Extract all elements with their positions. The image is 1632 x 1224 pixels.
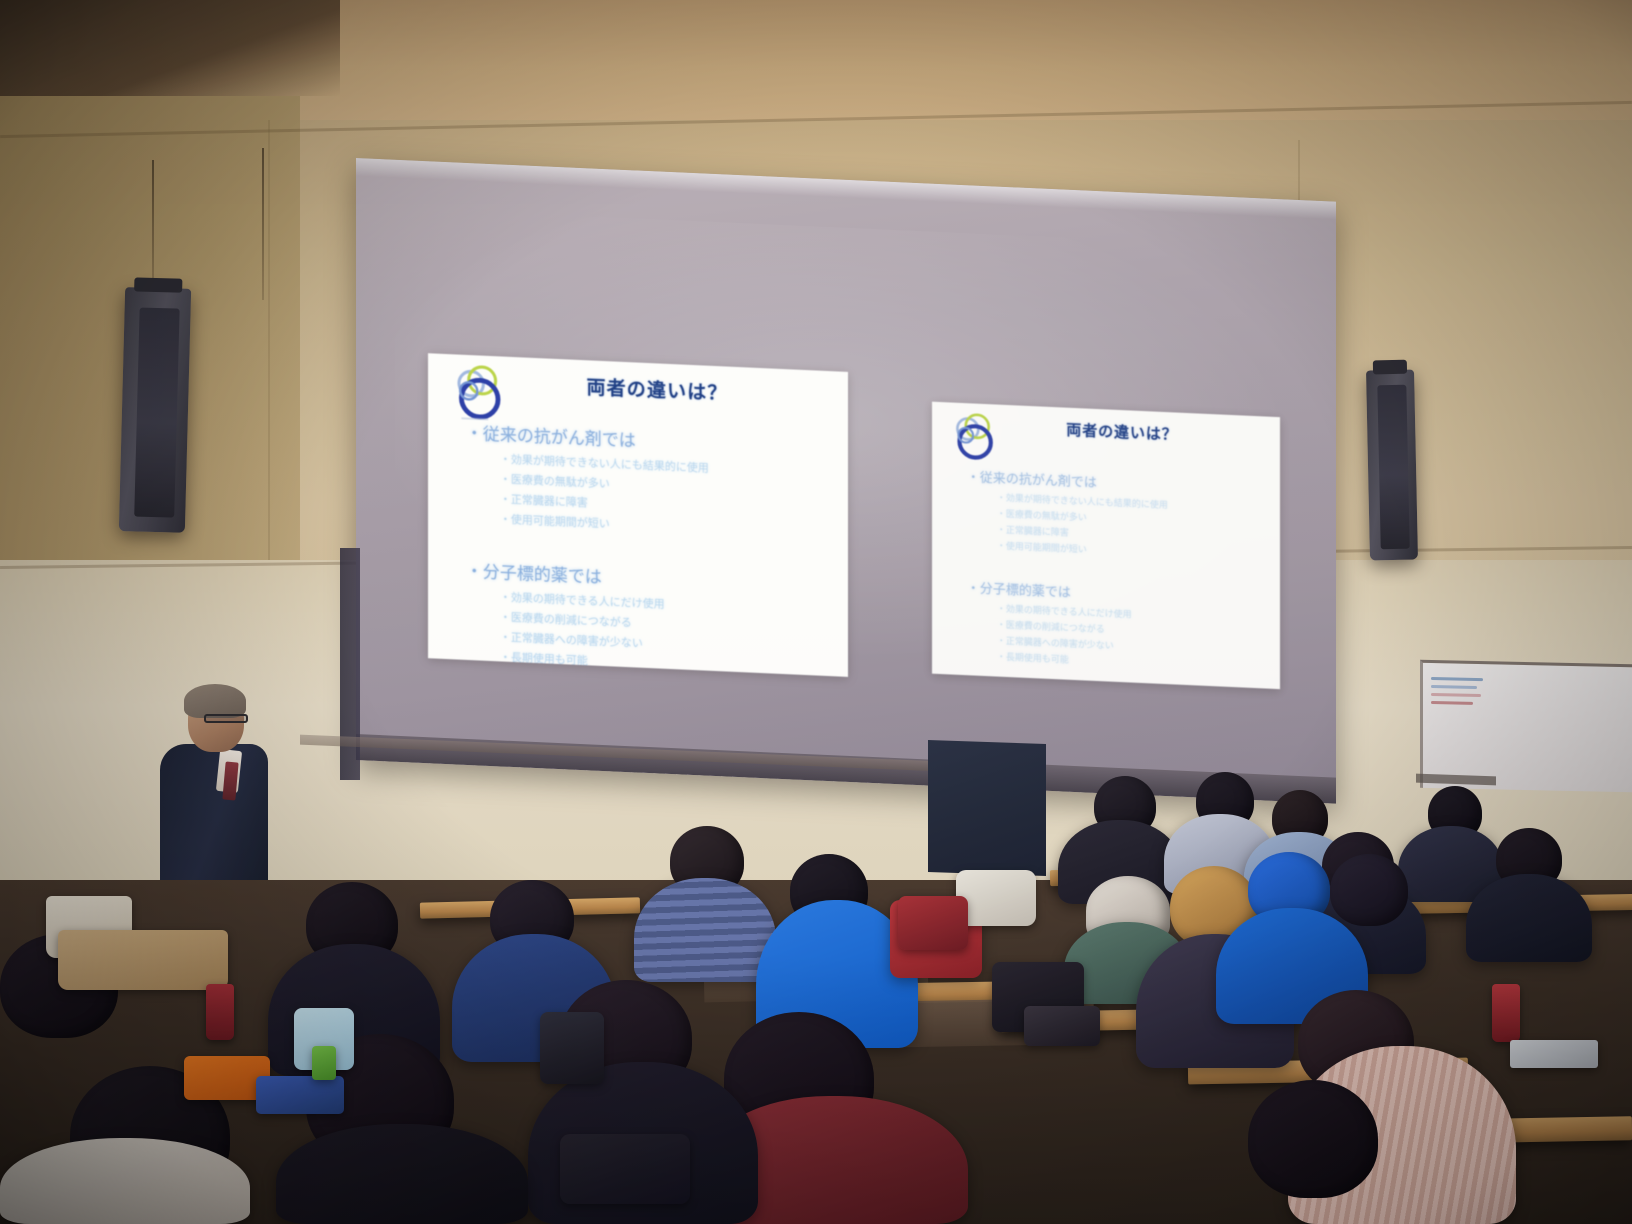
student-white-hood: [0, 1138, 250, 1224]
plastic-bag-white: [956, 870, 1036, 926]
backpack-black: [540, 1012, 604, 1084]
whiteboard-marker-mark: [1431, 677, 1483, 681]
water-bottle-red: [1492, 984, 1520, 1042]
student-head: [1248, 1080, 1378, 1198]
slide-panel-primary: 両者の違いは？ ・従来の抗がん剤では ・効果が期待できない人にも結果的に使用 ・…: [428, 353, 848, 677]
presenter-hair: [184, 684, 246, 718]
whiteboard-marker-mark: [1431, 685, 1477, 689]
ceiling-speaker-right: [1366, 370, 1418, 561]
speaker-wire: [262, 148, 264, 300]
paper-bag-tan: [58, 930, 228, 990]
ceiling-speaker-left: [119, 287, 191, 533]
speaker-wire: [152, 160, 154, 290]
slide-bullets: ・従来の抗がん剤では ・効果が期待できない人にも結果的に使用 ・医療費の無駄が多…: [466, 419, 836, 677]
student-red-jacket: [898, 896, 968, 950]
snack-pack-green: [256, 1076, 344, 1114]
thermos-red: [206, 984, 234, 1040]
backpack-black: [1024, 1006, 1100, 1046]
student-head: [1330, 854, 1408, 926]
whiteboard: [1420, 660, 1632, 792]
backpack-black: [560, 1134, 690, 1204]
slide-panel-secondary: 両者の違いは？ ・従来の抗がん剤では ・効果が期待できない人にも結果的に使用 ・…: [932, 402, 1280, 689]
speaker-bracket: [1373, 360, 1408, 375]
speaker-grille: [134, 307, 180, 518]
speaker-grille: [1377, 385, 1410, 549]
projection-screen: 両者の違いは？ ・従来の抗がん剤では ・効果が期待できない人にも結果的に使用 ・…: [356, 158, 1336, 804]
student-dark-head: [276, 1124, 528, 1224]
plastic-bag-white: [1510, 1040, 1598, 1068]
whiteboard-marker-mark: [1431, 693, 1481, 697]
wall-panel-line: [268, 120, 270, 560]
snack-pack-green: [312, 1046, 336, 1080]
student-navy-top: [1466, 874, 1592, 962]
speaker-bracket: [134, 277, 182, 292]
whiteboard-marker-mark: [1431, 701, 1473, 705]
glasses-icon: [204, 714, 248, 723]
slide-bullets: ・従来の抗がん剤では ・効果が期待できない人にも結果的に使用 ・医療費の無駄が多…: [967, 466, 1273, 678]
ceiling-shadow: [0, 0, 340, 96]
student-striped-blue: [634, 878, 776, 982]
chalkboard: [928, 740, 1046, 876]
lecture-hall-photo: 両者の違いは？ ・従来の抗がん剤では ・効果が期待できない人にも結果的に使用 ・…: [0, 0, 1632, 1224]
